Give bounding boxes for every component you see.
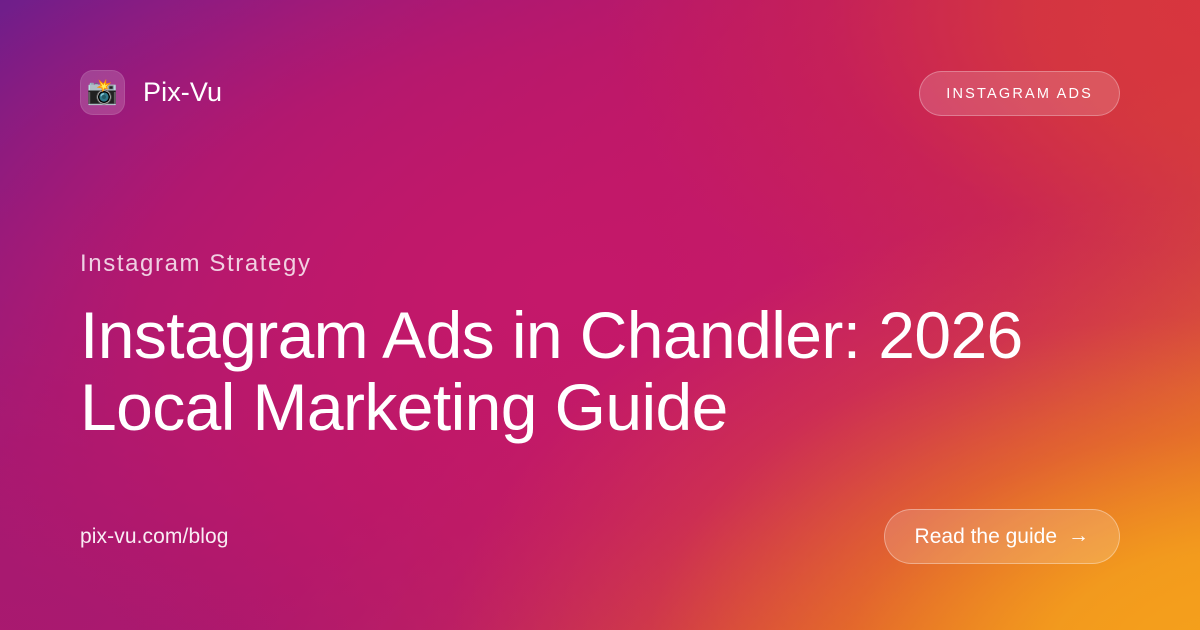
camera-with-flash-icon: 📸: [80, 70, 125, 115]
social-share-card: 📸 Pix-Vu INSTAGRAM ADS Instagram Strateg…: [0, 0, 1200, 630]
cta-label: Read the guide: [915, 525, 1057, 549]
arrow-right-icon: →: [1068, 525, 1089, 546]
page-title: Instagram Ads in Chandler: 2026 Local Ma…: [80, 300, 1110, 444]
eyebrow-label: Instagram Strategy: [80, 250, 1120, 278]
card-header: 📸 Pix-Vu INSTAGRAM ADS: [0, 0, 1200, 186]
hero-section: Instagram Strategy Instagram Ads in Chan…: [80, 250, 1120, 444]
brand-name: Pix-Vu: [143, 77, 222, 108]
read-the-guide-button[interactable]: Read the guide →: [884, 509, 1120, 564]
logo-glyph: 📸: [87, 80, 118, 105]
card-footer: pix-vu.com/blog Read the guide →: [80, 509, 1120, 564]
site-url: pix-vu.com/blog: [80, 525, 229, 549]
category-badge[interactable]: INSTAGRAM ADS: [919, 71, 1120, 116]
brand-lockup[interactable]: 📸 Pix-Vu: [80, 70, 222, 115]
